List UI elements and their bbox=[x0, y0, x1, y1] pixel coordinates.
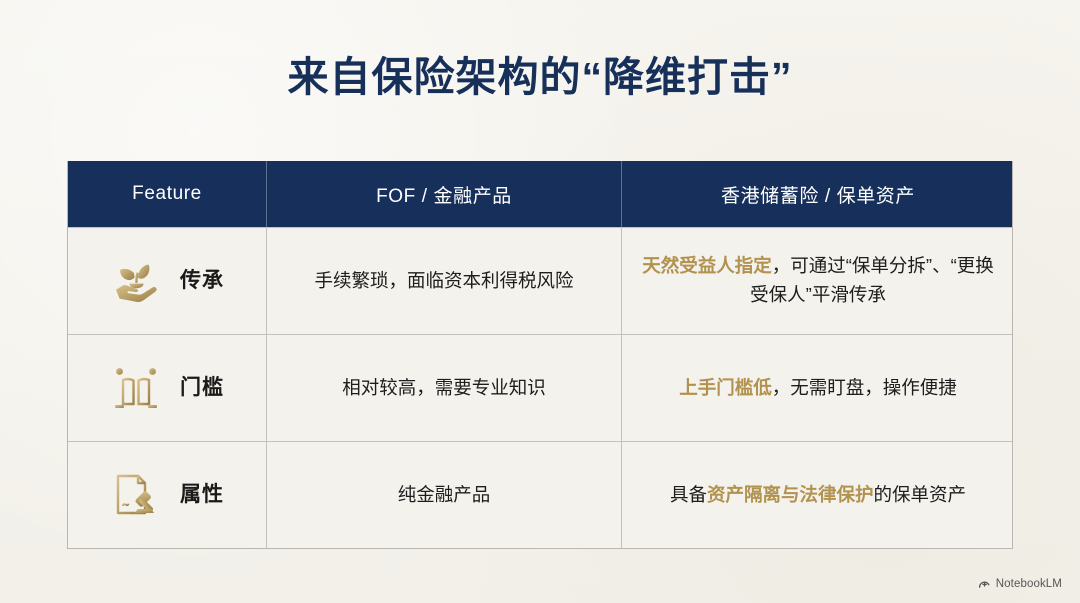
feature-cell: 属性 bbox=[68, 442, 266, 548]
hk-cell: 具备资产隔离与法律保护的保单资产 bbox=[621, 442, 1014, 548]
hand-sprout-icon bbox=[110, 255, 162, 307]
fof-cell: 纯金融产品 bbox=[266, 442, 621, 548]
hk-cell: 上手门槛低，无需盯盘，操作便捷 bbox=[621, 335, 1014, 441]
feature-cell: 传承 bbox=[68, 228, 266, 334]
hk-text: 上手门槛低，无需盯盘，操作便捷 bbox=[679, 374, 957, 403]
fof-cell: 相对较高，需要专业知识 bbox=[266, 335, 621, 441]
hk-cell: 天然受益人指定，可通过“保单分拆”、“更换受保人”平滑传承 bbox=[621, 228, 1014, 334]
feature-label: 传承 bbox=[180, 265, 224, 298]
column-header-feature: Feature bbox=[68, 161, 266, 227]
hk-highlight: 上手门槛低 bbox=[679, 377, 772, 398]
notebooklm-watermark: NotebookLM bbox=[978, 577, 1062, 590]
column-header-fof: FOF / 金融产品 bbox=[266, 161, 621, 227]
page-title: 来自保险架构的“降维打击” bbox=[0, 52, 1080, 102]
hk-text: 天然受益人指定，可通过“保单分拆”、“更换受保人”平滑传承 bbox=[638, 252, 998, 309]
gate-icon bbox=[110, 362, 162, 414]
notebooklm-label: NotebookLM bbox=[996, 578, 1062, 590]
hk-text: 具备资产隔离与法律保护的保单资产 bbox=[670, 481, 966, 510]
table-row: 传承 手续繁琐，面临资本利得税风险 天然受益人指定，可通过“保单分拆”、“更换受… bbox=[68, 227, 1012, 334]
hk-body-tail: 的保单资产 bbox=[874, 484, 967, 505]
table-header-row: Feature FOF / 金融产品 香港储蓄险 / 保单资产 bbox=[68, 161, 1012, 227]
hk-body: ，无需盯盘，操作便捷 bbox=[772, 377, 957, 398]
feature-cell: 门槛 bbox=[68, 335, 266, 441]
hk-body-lead: 具备 bbox=[670, 484, 707, 505]
hk-highlight: 资产隔离与法律保护 bbox=[707, 484, 874, 505]
column-header-hk-savings: 香港储蓄险 / 保单资产 bbox=[621, 161, 1014, 227]
feature-label: 门槛 bbox=[180, 372, 224, 405]
comparison-table: Feature FOF / 金融产品 香港储蓄险 / 保单资产 bbox=[67, 161, 1013, 549]
table-row: 门槛 相对较高，需要专业知识 上手门槛低，无需盯盘，操作便捷 bbox=[68, 334, 1012, 441]
fof-cell: 手续繁琐，面临资本利得税风险 bbox=[266, 228, 621, 334]
fof-text: 纯金融产品 bbox=[398, 481, 491, 510]
slide-root: 来自保险架构的“降维打击” Feature FOF / 金融产品 香港储蓄险 /… bbox=[0, 0, 1080, 603]
hk-highlight: 天然受益人指定 bbox=[642, 255, 772, 276]
fof-text: 手续繁琐，面临资本利得税风险 bbox=[314, 267, 573, 296]
fof-text: 相对较高，需要专业知识 bbox=[342, 374, 546, 403]
hk-body: ，可通过“保单分拆”、“更换受保人”平滑传承 bbox=[750, 255, 994, 305]
notebooklm-spark-icon bbox=[978, 577, 991, 590]
table-row: 属性 纯金融产品 具备资产隔离与法律保护的保单资产 bbox=[68, 441, 1012, 548]
document-gavel-icon bbox=[110, 469, 162, 521]
feature-label: 属性 bbox=[180, 479, 224, 512]
